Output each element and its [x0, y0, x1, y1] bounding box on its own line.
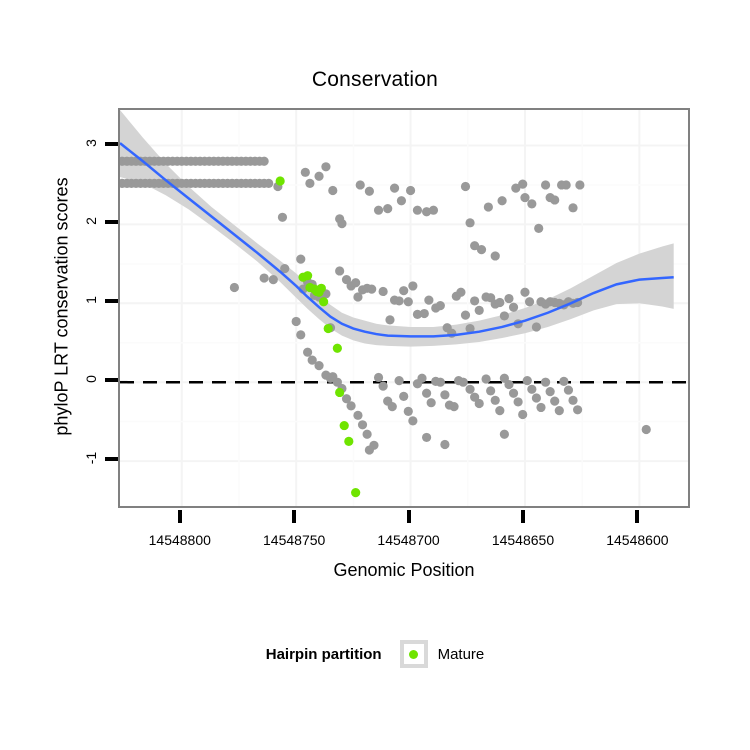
data-point-other — [525, 297, 534, 306]
data-point-other — [399, 286, 408, 295]
x-tick-label: 14548750 — [263, 532, 325, 548]
y-tick-label: 3 — [80, 135, 102, 151]
data-point-other — [500, 311, 509, 320]
data-point-other — [399, 392, 408, 401]
data-point-other — [555, 406, 564, 415]
data-point-other — [456, 288, 465, 297]
data-point-other — [559, 377, 568, 386]
data-point-other — [504, 380, 513, 389]
data-point-mature — [276, 176, 285, 185]
x-axis: 1454880014548750145487001454865014548600 — [118, 510, 690, 550]
x-tick — [178, 510, 182, 523]
data-point-other — [365, 445, 374, 454]
y-tick — [105, 220, 118, 224]
data-point-other — [575, 180, 584, 189]
data-point-other — [356, 180, 365, 189]
data-point-other — [509, 303, 518, 312]
data-point-other — [420, 309, 429, 318]
data-point-other — [379, 382, 388, 391]
data-point-other — [424, 296, 433, 305]
data-point-other — [269, 275, 278, 284]
data-point-other — [260, 157, 269, 166]
data-point-other — [486, 386, 495, 395]
data-point-mature — [317, 284, 326, 293]
data-point-other — [491, 251, 500, 260]
data-point-other — [562, 180, 571, 189]
x-axis-title: Genomic Position — [118, 560, 690, 581]
data-point-other — [335, 266, 344, 275]
data-point-other — [436, 301, 445, 310]
data-point-other — [550, 195, 559, 204]
data-point-other — [546, 387, 555, 396]
data-point-other — [564, 385, 573, 394]
x-tick-label: 14548650 — [492, 532, 554, 548]
chart-canvas — [120, 110, 690, 508]
data-point-other — [365, 187, 374, 196]
data-point-other — [408, 281, 417, 290]
x-tick — [292, 510, 296, 523]
data-point-other — [301, 168, 310, 177]
data-point-other — [314, 172, 323, 181]
data-point-other — [541, 378, 550, 387]
data-point-other — [230, 283, 239, 292]
plot-panel — [118, 108, 690, 508]
legend: Hairpin partition Mature — [0, 640, 750, 668]
data-point-other — [390, 184, 399, 193]
data-point-other — [429, 206, 438, 215]
data-point-other — [475, 306, 484, 315]
y-tick — [105, 457, 118, 461]
x-tick-label: 14548700 — [377, 532, 439, 548]
data-point-other — [509, 389, 518, 398]
data-point-other — [404, 407, 413, 416]
data-point-other — [321, 162, 330, 171]
data-point-other — [449, 402, 458, 411]
data-point-other — [481, 374, 490, 383]
data-point-mature — [351, 488, 360, 497]
data-point-other — [518, 410, 527, 419]
data-point-other — [440, 440, 449, 449]
x-tick-label: 14548800 — [149, 532, 211, 548]
data-point-other — [314, 361, 323, 370]
y-tick — [105, 142, 118, 146]
data-point-other — [328, 186, 337, 195]
data-point-other — [536, 403, 545, 412]
data-point-mature — [303, 271, 312, 280]
data-point-other — [358, 420, 367, 429]
data-point-mature — [324, 324, 333, 333]
data-point-other — [346, 401, 355, 410]
data-point-other — [422, 433, 431, 442]
data-point-other — [388, 402, 397, 411]
data-point-other — [351, 278, 360, 287]
data-point-other — [520, 288, 529, 297]
data-point-other — [461, 311, 470, 320]
data-point-other — [383, 204, 392, 213]
data-point-other — [541, 180, 550, 189]
data-point-other — [518, 180, 527, 189]
data-point-other — [395, 296, 404, 305]
data-point-other — [427, 398, 436, 407]
data-point-other — [278, 213, 287, 222]
data-point-other — [413, 206, 422, 215]
data-point-mature — [344, 437, 353, 446]
data-point-other — [527, 199, 536, 208]
data-point-other — [422, 389, 431, 398]
x-tick — [635, 510, 639, 523]
x-tick — [407, 510, 411, 523]
y-tick-label: 0 — [80, 371, 102, 387]
data-point-other — [504, 294, 513, 303]
data-point-mature — [335, 388, 344, 397]
data-point-other — [353, 411, 362, 420]
data-point-other — [491, 396, 500, 405]
y-tick-label: 2 — [80, 213, 102, 229]
data-point-other — [305, 179, 314, 188]
page-title: Conservation — [0, 68, 750, 92]
data-point-other — [484, 202, 493, 211]
data-point-other — [470, 296, 479, 305]
data-point-other — [523, 376, 532, 385]
data-point-other — [532, 393, 541, 402]
data-point-mature — [319, 297, 328, 306]
data-point-other — [292, 317, 301, 326]
data-point-other — [374, 373, 383, 382]
data-point-other — [477, 245, 486, 254]
data-point-other — [514, 397, 523, 406]
y-tick-label: 1 — [80, 292, 102, 308]
legend-label-mature: Mature — [438, 646, 485, 663]
y-axis-title: phyloP LRT conservation scores — [52, 107, 73, 507]
data-point-other — [573, 405, 582, 414]
data-point-other — [534, 224, 543, 233]
data-point-other — [550, 397, 559, 406]
data-point-other — [260, 273, 269, 282]
data-point-other — [395, 376, 404, 385]
data-point-other — [520, 193, 529, 202]
data-point-other — [406, 186, 415, 195]
data-point-other — [408, 416, 417, 425]
data-point-mature — [333, 344, 342, 353]
x-tick-label: 14548600 — [606, 532, 668, 548]
y-tick — [105, 299, 118, 303]
data-point-mature — [340, 421, 349, 430]
data-point-other — [527, 385, 536, 394]
data-point-other — [532, 322, 541, 331]
chart-root: Conservation -10123 14548800145487501454… — [0, 0, 750, 750]
data-point-other — [497, 196, 506, 205]
legend-marker-icon — [409, 650, 418, 659]
legend-key-mature[interactable] — [400, 640, 428, 668]
data-point-other — [461, 182, 470, 191]
data-point-other — [465, 218, 474, 227]
data-point-other — [296, 330, 305, 339]
data-point-other — [397, 196, 406, 205]
data-point-other — [404, 297, 413, 306]
legend-title: Hairpin partition — [266, 646, 382, 663]
data-point-other — [465, 385, 474, 394]
data-point-other — [642, 425, 651, 434]
data-point-other — [568, 396, 577, 405]
data-point-other — [500, 430, 509, 439]
data-point-other — [379, 287, 388, 296]
plot-area — [120, 110, 688, 506]
data-point-other — [296, 255, 305, 264]
data-point-other — [417, 374, 426, 383]
data-point-other — [303, 348, 312, 357]
data-point-other — [436, 378, 445, 387]
data-point-other — [337, 219, 346, 228]
data-point-other — [495, 406, 504, 415]
data-point-other — [459, 378, 468, 387]
data-point-other — [440, 390, 449, 399]
data-point-other — [385, 315, 394, 324]
data-point-other — [363, 430, 372, 439]
data-point-other — [495, 298, 504, 307]
y-tick — [105, 378, 118, 382]
y-tick-label: -1 — [80, 450, 102, 466]
x-tick — [521, 510, 525, 523]
data-point-other — [264, 179, 273, 188]
data-point-other — [367, 284, 376, 293]
data-point-other — [475, 399, 484, 408]
data-point-other — [374, 206, 383, 215]
data-point-other — [568, 203, 577, 212]
